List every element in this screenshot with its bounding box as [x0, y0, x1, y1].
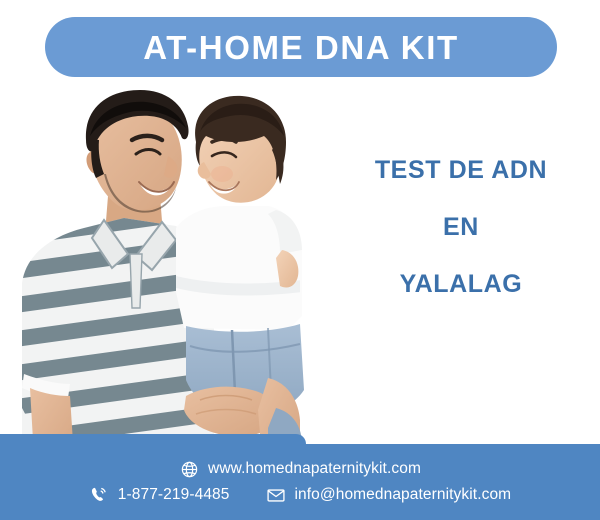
footer-row-website: www.homednapaternitykit.com: [179, 459, 421, 479]
website-text: www.homednapaternitykit.com: [208, 461, 421, 477]
headline-line-2: EN: [330, 215, 592, 240]
phone-text: 1-877-219-4485: [118, 487, 230, 503]
header-banner: AT-HOME DNA KIT: [45, 17, 557, 77]
phone-icon: [89, 485, 109, 505]
headline-line-1: TEST DE ADN: [330, 158, 592, 183]
header-title: AT-HOME DNA KIT: [143, 31, 458, 64]
family-photo: [0, 78, 340, 458]
footer-bar: www.homednapaternitykit.com 1-877-219-44…: [0, 434, 600, 520]
email-item[interactable]: info@homednapaternitykit.com: [266, 485, 512, 505]
headline-line-3: YALALAG: [330, 272, 592, 297]
headline-block: TEST DE ADN EN YALALAG: [330, 158, 592, 297]
phone-item[interactable]: 1-877-219-4485: [89, 485, 230, 505]
email-text: info@homednapaternitykit.com: [295, 487, 512, 503]
footer-row-contact: 1-877-219-4485 info@homednapaternitykit.…: [89, 485, 511, 505]
footer-contact-info: www.homednapaternitykit.com 1-877-219-44…: [0, 444, 600, 520]
globe-icon: [179, 459, 199, 479]
promo-card: AT-HOME DNA KIT: [0, 0, 600, 520]
envelope-icon: [266, 485, 286, 505]
website-item[interactable]: www.homednapaternitykit.com: [179, 459, 421, 479]
family-photo-illustration: [0, 78, 340, 458]
